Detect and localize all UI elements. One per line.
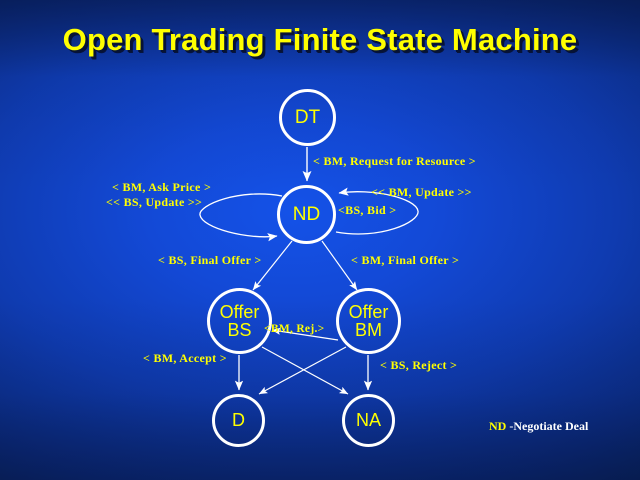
edge-offerbs-na xyxy=(262,347,348,394)
state-node-nd-label: ND xyxy=(293,205,320,224)
edge-label-bm-final-offer: < BM, Final Offer > xyxy=(351,253,459,268)
edge-label-request-for-resource: < BM, Request for Resource > xyxy=(313,154,476,169)
state-node-offer-bm[interactable]: Offer BM xyxy=(336,288,401,354)
state-node-na[interactable]: NA xyxy=(342,394,395,447)
edge-offerbm-d xyxy=(259,347,346,394)
legend: ND -Negotiate Deal xyxy=(489,419,588,434)
edge-label-bs-final-offer: < BS, Final Offer > xyxy=(158,253,262,268)
edge-label-bs-reject: < BS, Reject > xyxy=(380,358,457,373)
edge-label-bs-update: << BS, Update >> xyxy=(106,195,202,210)
state-node-offer-bs[interactable]: Offer BS xyxy=(207,288,272,354)
slide-canvas: Open Trading Finite State Machine xyxy=(0,0,640,480)
edge-nd-self-left xyxy=(200,194,282,237)
state-node-na-label: NA xyxy=(356,411,381,429)
edge-label-bm-accept: < BM, Accept > xyxy=(143,351,227,366)
state-node-offer-bs-label-line1: Offer xyxy=(220,303,260,321)
state-node-offer-bm-label-line2: BM xyxy=(355,321,382,339)
state-node-dt[interactable]: DT xyxy=(279,89,336,146)
edge-label-ask-price: < BM, Ask Price > xyxy=(112,180,211,195)
state-node-d-label: D xyxy=(232,411,245,429)
state-node-nd[interactable]: ND xyxy=(277,185,336,244)
legend-description: -Negotiate Deal xyxy=(506,419,588,433)
edge-label-bs-bid: <BS, Bid > xyxy=(338,203,396,218)
state-node-offer-bs-label-line2: BS xyxy=(227,321,251,339)
state-node-dt-label: DT xyxy=(295,108,320,127)
legend-key: ND xyxy=(489,419,506,433)
page-title: Open Trading Finite State Machine xyxy=(0,22,640,58)
edge-label-bm-rej: <BM, Rej.> xyxy=(264,323,325,335)
state-node-offer-bm-label-line1: Offer xyxy=(349,303,389,321)
state-node-d[interactable]: D xyxy=(212,394,265,447)
edge-label-bm-update: << BM, Update >> xyxy=(371,185,472,200)
